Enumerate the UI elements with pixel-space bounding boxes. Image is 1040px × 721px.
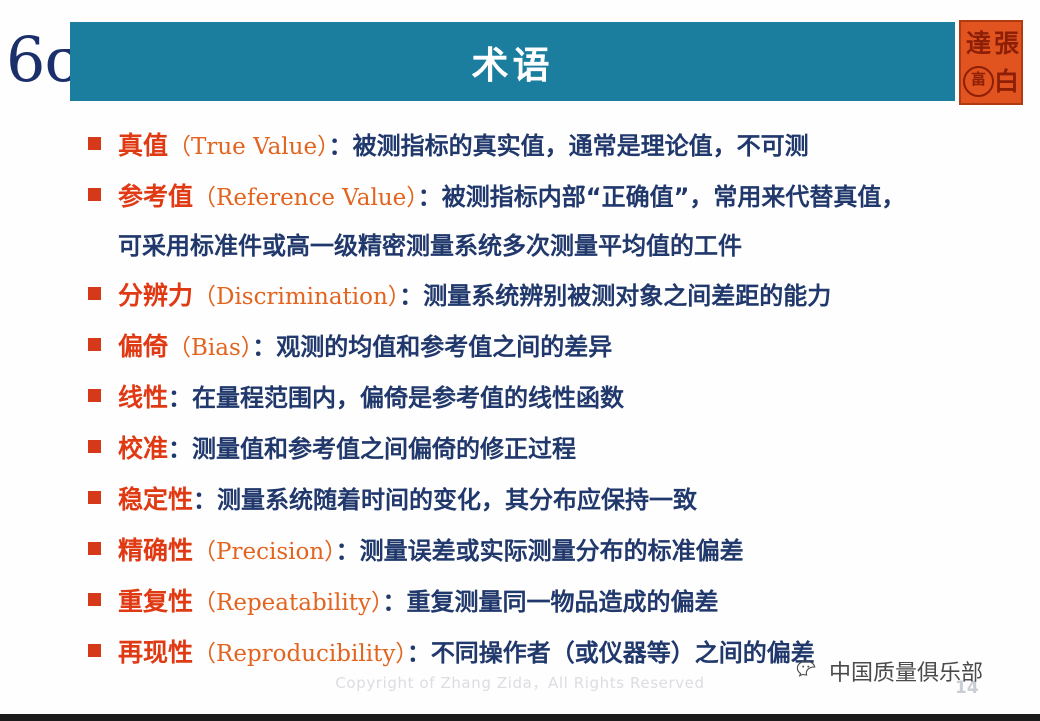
seal-char-circled: 畗	[963, 63, 994, 102]
page-title: 术语	[70, 35, 955, 89]
term-english: （Reproducibility）	[193, 641, 407, 667]
term-label: 再现性	[118, 638, 193, 667]
term-separator: ：	[193, 486, 217, 514]
term-separator: ：	[168, 384, 192, 412]
list-item: 稳定性：测量系统随着时间的变化，其分布应保持一致	[0, 476, 1040, 525]
term-separator: ：	[399, 282, 423, 310]
term-english: （Reference Value）	[193, 185, 418, 211]
bullet-square-icon	[88, 440, 101, 453]
term-description: 被测指标的真实值，通常是理论值，不可测	[353, 132, 809, 160]
term-separator: ：	[418, 183, 442, 211]
watermark-label: 中国质量俱乐部	[829, 655, 983, 687]
term-separator: ：	[382, 588, 406, 616]
seal-char-bai: 白	[994, 63, 1019, 102]
list-item: 精确性（Precision）：测量误差或实际测量分布的标准偏差	[0, 527, 1040, 576]
term-description: 测量误差或实际测量分布的标准偏差	[360, 537, 744, 565]
list-item-line: 重复性（Repeatability）：重复测量同一物品造成的偏差	[118, 578, 1040, 627]
slide: 6σ 术语 達 張 畗 白 真值（True Value）：被测指标的真实值，通常…	[0, 0, 1040, 721]
list-item-line: 偏倚（Bias）：观测的均值和参考值之间的差异	[118, 323, 1040, 372]
term-separator: ：	[336, 537, 360, 565]
title-bar: 术语	[70, 22, 955, 101]
term-description: 重复测量同一物品造成的偏差	[406, 588, 718, 616]
bullet-square-icon	[88, 338, 101, 351]
bullet-square-icon	[88, 287, 101, 300]
list-item: 分辨力（Discrimination）：测量系统辨别被测对象之间差距的能力	[0, 272, 1040, 321]
list-item-line: 校准：测量值和参考值之间偏倚的修正过程	[118, 425, 1040, 474]
term-description: 测量值和参考值之间偏倚的修正过程	[192, 435, 576, 463]
term-label: 精确性	[118, 536, 193, 565]
list-item: 真值（True Value）：被测指标的真实值，通常是理论值，不可测	[0, 122, 1040, 171]
bullet-square-icon	[88, 389, 101, 402]
wechat-watermark: 中国质量俱乐部	[796, 655, 983, 687]
terminology-list: 真值（True Value）：被测指标的真实值，通常是理论值，不可测 参考值（R…	[0, 122, 1040, 652]
list-item: 校准：测量值和参考值之间偏倚的修正过程	[0, 425, 1040, 474]
list-item: 偏倚（Bias）：观测的均值和参考值之间的差异	[0, 323, 1040, 372]
author-seal-stamp: 達 張 畗 白	[959, 20, 1023, 105]
bullet-square-icon	[88, 188, 101, 201]
bullet-square-icon	[88, 593, 101, 606]
term-separator: ：	[329, 132, 353, 160]
slide-header: 6σ 术语 達 張 畗 白	[0, 0, 1040, 118]
term-description-continued: 可采用标准件或高一级精密测量系统多次测量平均值的工件	[118, 232, 742, 260]
term-separator: ：	[252, 333, 276, 361]
list-item-continuation: 可采用标准件或高一级精密测量系统多次测量平均值的工件	[118, 222, 1040, 270]
list-item-line: 参考值（Reference Value）：被测指标内部“正确值”，常用来代替真值…	[118, 173, 1040, 222]
term-label: 真值	[118, 131, 168, 160]
seal-char-da: 達	[963, 24, 994, 63]
list-item-line: 分辨力（Discrimination）：测量系统辨别被测对象之间差距的能力	[118, 272, 1040, 321]
wechat-icon	[796, 659, 822, 683]
term-separator: ：	[168, 435, 192, 463]
term-description: 不同操作者（或仪器等）之间的偏差	[431, 639, 815, 667]
bottom-strip	[0, 714, 1040, 721]
term-english: （True Value）	[168, 134, 329, 160]
bullet-square-icon	[88, 644, 101, 657]
term-label: 重复性	[118, 587, 193, 616]
list-item-line: 精确性（Precision）：测量误差或实际测量分布的标准偏差	[118, 527, 1040, 576]
list-item: 线性：在量程范围内，偏倚是参考值的线性函数	[0, 374, 1040, 423]
term-description: 观测的均值和参考值之间的差异	[276, 333, 612, 361]
term-english: （Bias）	[168, 335, 252, 361]
list-item-line: 稳定性：测量系统随着时间的变化，其分布应保持一致	[118, 476, 1040, 525]
bullet-square-icon	[88, 491, 101, 504]
term-separator: ：	[407, 639, 431, 667]
list-item-line: 线性：在量程范围内，偏倚是参考值的线性函数	[118, 374, 1040, 423]
term-label: 稳定性	[118, 485, 193, 514]
term-label: 线性	[118, 383, 168, 412]
term-description: 测量系统随着时间的变化，其分布应保持一致	[217, 486, 697, 514]
six-sigma-logo: 6σ	[6, 14, 72, 106]
term-english: （Precision）	[193, 539, 336, 565]
term-label: 分辨力	[118, 281, 193, 310]
seal-grid: 達 張 畗 白	[963, 24, 1019, 101]
seal-char-zhang: 張	[994, 24, 1019, 63]
seal-circle-glyph: 畗	[963, 66, 994, 97]
list-item: 参考值（Reference Value）：被测指标内部“正确值”，常用来代替真值…	[0, 173, 1040, 270]
bullet-square-icon	[88, 542, 101, 555]
term-label: 偏倚	[118, 332, 168, 361]
term-label: 参考值	[118, 182, 193, 211]
list-item: 重复性（Repeatability）：重复测量同一物品造成的偏差	[0, 578, 1040, 627]
bullet-square-icon	[88, 137, 101, 150]
list-item-line: 真值（True Value）：被测指标的真实值，通常是理论值，不可测	[118, 122, 1040, 171]
term-description: 被测指标内部“正确值”，常用来代替真值，	[442, 183, 906, 211]
term-english: （Repeatability）	[193, 590, 382, 616]
term-description: 在量程范围内，偏倚是参考值的线性函数	[192, 384, 624, 412]
term-description: 测量系统辨别被测对象之间差距的能力	[423, 282, 831, 310]
term-label: 校准	[118, 434, 168, 463]
term-english: （Discrimination）	[193, 284, 399, 310]
